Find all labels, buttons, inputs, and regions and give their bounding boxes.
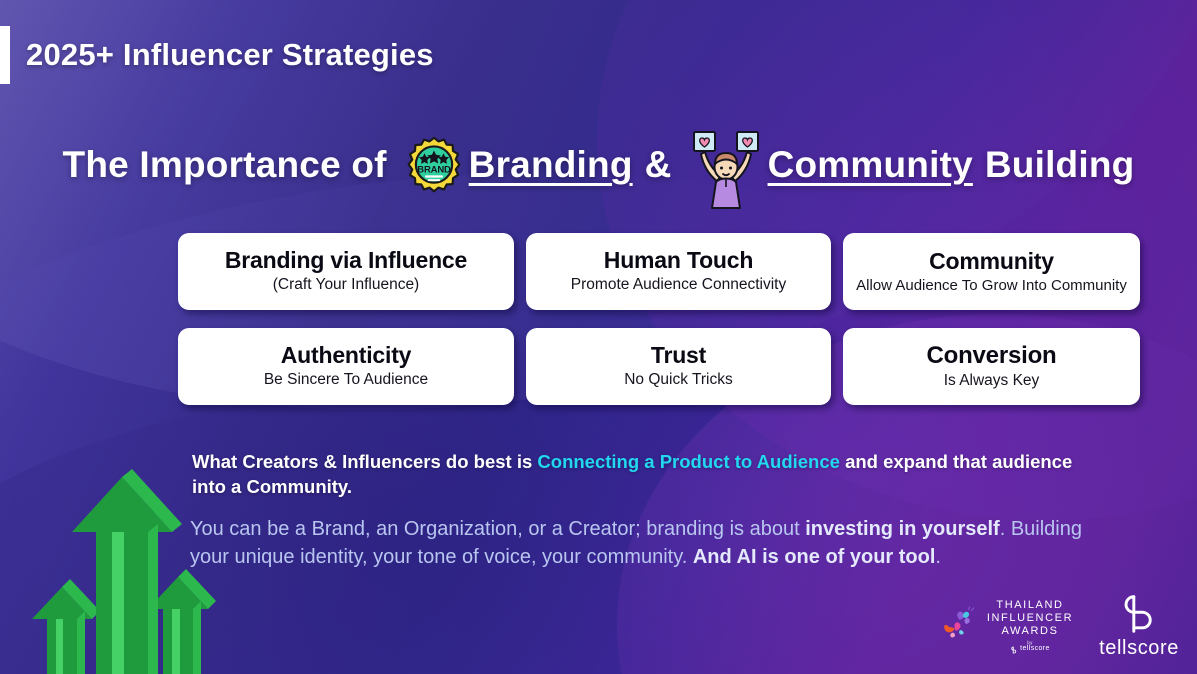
card-title: Branding via Influence [225, 248, 467, 274]
headline-part1: The Importance of [63, 144, 387, 186]
page-title: 2025+ Influencer Strategies [26, 37, 434, 73]
p2-bold-1: investing in yourself [805, 518, 999, 540]
p2-lead: You can be a Brand, an Organization, or … [190, 518, 805, 540]
p2-bold-2: And AI is one of your tool [693, 546, 936, 568]
strategy-card[interactable]: Trust No Quick Tricks [526, 328, 831, 405]
slide-root: 2025+ Influencer Strategies The Importan… [0, 0, 1197, 674]
card-subtitle: Allow Audience To Grow Into Community [856, 277, 1127, 295]
headline-building-word: Building [985, 144, 1135, 186]
tellscore-mark-icon [1120, 593, 1158, 635]
card-subtitle: (Craft Your Influence) [273, 276, 419, 294]
tellscore-logo: tellscore [1099, 593, 1179, 660]
strategy-card[interactable]: Human Touch Promote Audience Connectivit… [526, 233, 831, 310]
p2-tail: . [935, 546, 941, 568]
card-title: Conversion [926, 343, 1056, 370]
awards-line-3: AWARDS [987, 625, 1073, 638]
card-subtitle: No Quick Tricks [624, 371, 733, 389]
awards-line-2: INFLUENCER [987, 612, 1073, 625]
strategy-card[interactable]: Community Allow Audience To Grow Into Co… [843, 233, 1140, 310]
headline: The Importance of BRAND Branding [0, 130, 1197, 200]
strategy-card[interactable]: Conversion Is Always Key [843, 328, 1140, 405]
card-title: Trust [651, 343, 706, 369]
logo-group: THAILAND INFLUENCER AWARDS by tellscore … [940, 593, 1179, 660]
strategy-card[interactable]: Authenticity Be Sincere To Audience [178, 328, 514, 405]
awards-wordmark: THAILAND INFLUENCER AWARDS by tellscore [987, 599, 1073, 653]
slide-title-row: 2025+ Influencer Strategies [0, 26, 434, 84]
strategy-card-grid: Branding via Influence (Craft Your Influ… [178, 233, 1138, 405]
card-subtitle: Is Always Key [944, 372, 1040, 390]
title-accent-bar [0, 26, 10, 84]
headline-community-word: Community [768, 144, 973, 186]
headline-branding-word: Branding [469, 144, 633, 186]
tellscore-mark-small [1010, 646, 1018, 654]
brand-badge-icon: BRAND [405, 136, 463, 194]
awards-by-label: by [987, 640, 1073, 645]
p1-highlight: Connecting a Product to Audience [537, 451, 840, 472]
headline-ampersand: & [645, 144, 672, 186]
awards-brand-label: tellscore [1020, 645, 1050, 653]
p1-lead: What Creators & Influencers do best is [192, 451, 537, 472]
body-paragraph-secondary: You can be a Brand, an Organization, or … [190, 515, 1090, 572]
card-title: Authenticity [281, 343, 412, 369]
awards-tellscore-credit: tellscore [987, 645, 1073, 653]
butterflies-icon [940, 605, 980, 648]
tellscore-wordmark: tellscore [1099, 637, 1179, 660]
body-paragraph-primary: What Creators & Influencers do best is C… [192, 450, 1092, 499]
thailand-influencer-awards-logo: THAILAND INFLUENCER AWARDS by tellscore [940, 599, 1073, 653]
card-title: Human Touch [604, 248, 753, 274]
card-subtitle: Be Sincere To Audience [264, 371, 428, 389]
strategy-card[interactable]: Branding via Influence (Craft Your Influ… [178, 233, 514, 310]
card-title: Community [929, 249, 1054, 275]
awards-line-1: THAILAND [987, 599, 1073, 612]
card-subtitle: Promote Audience Connectivity [571, 276, 786, 294]
person-raising-hearts-icon [692, 130, 764, 210]
svg-text:BRAND: BRAND [417, 165, 451, 176]
